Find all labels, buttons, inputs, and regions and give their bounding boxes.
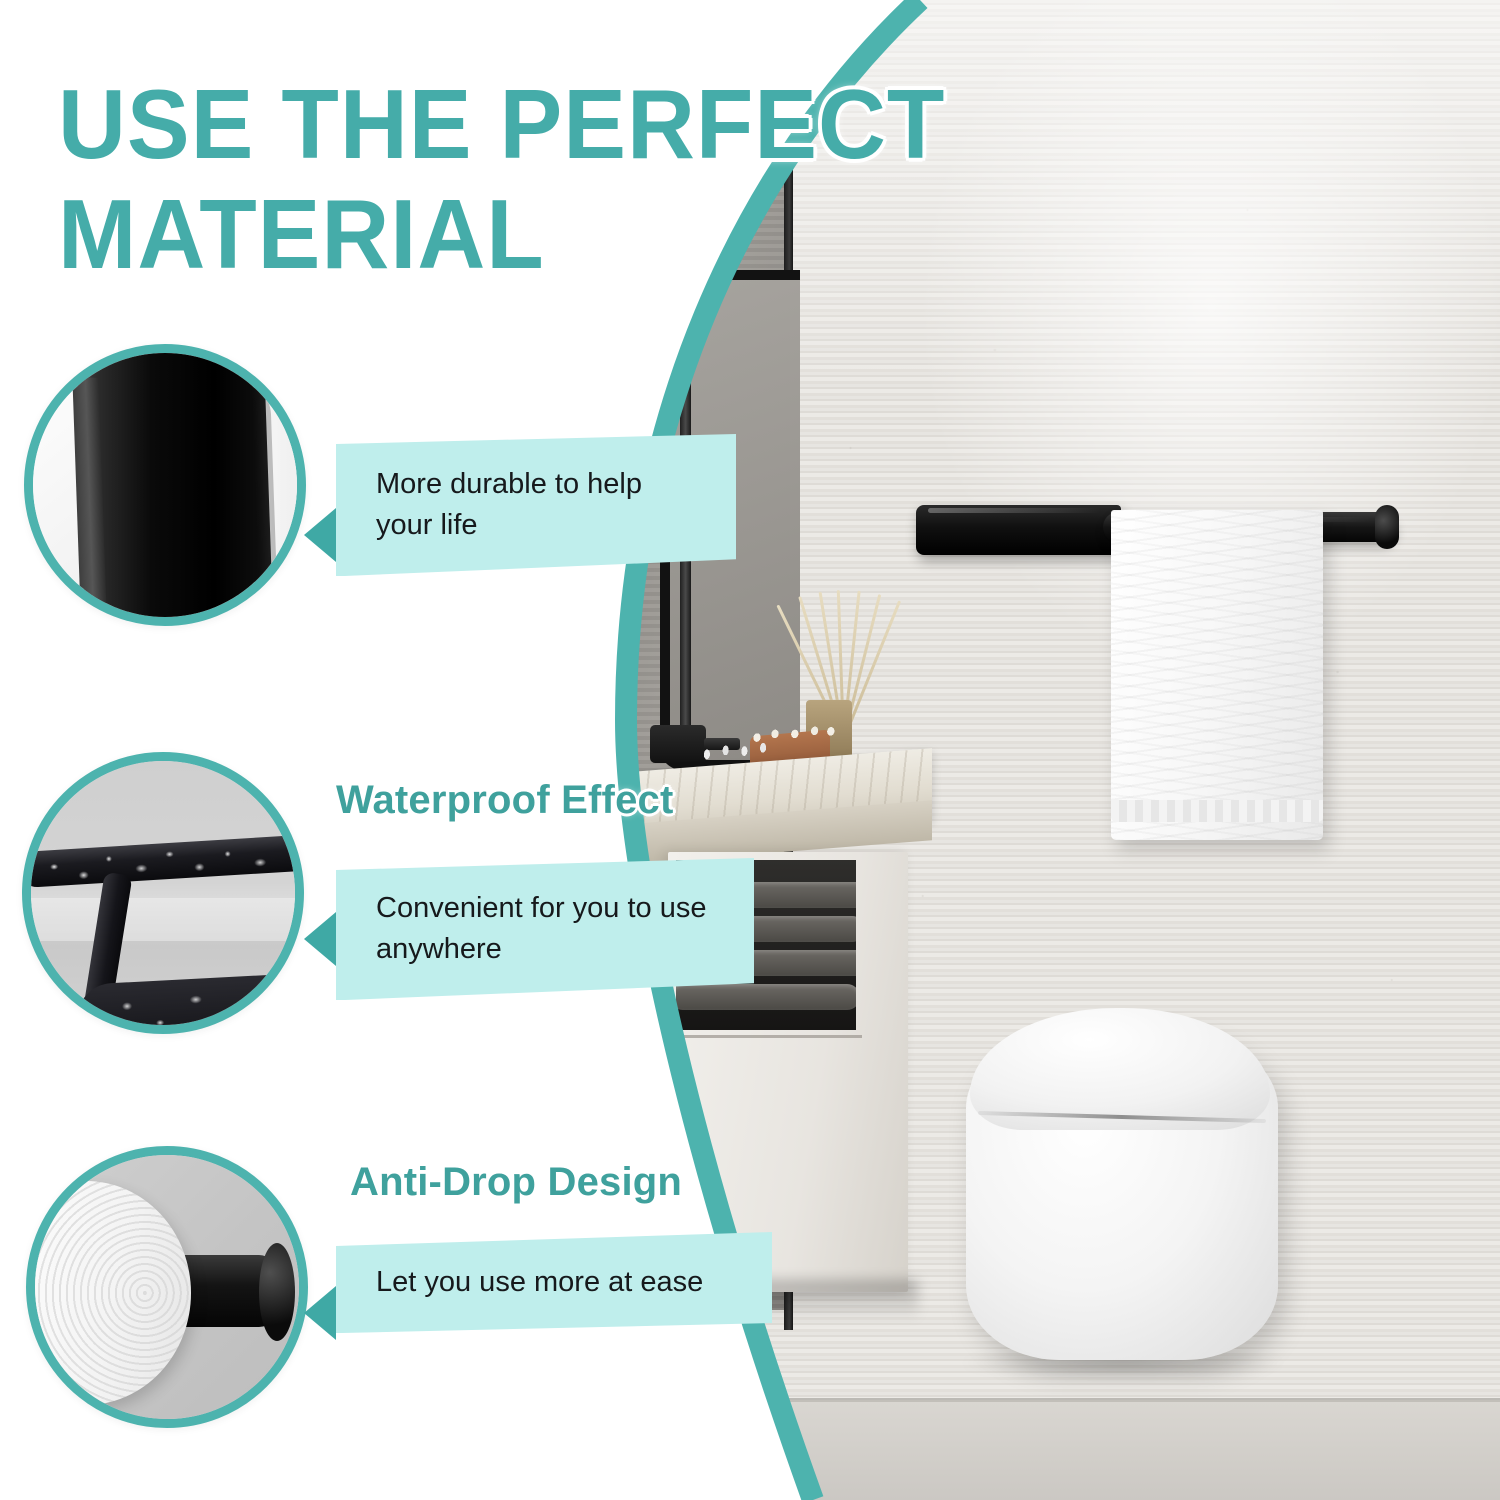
paper-holder-end-cap [259,1243,295,1341]
product-infographic: USE THE PERFECT MATERIAL More durable to… [0,0,1500,1500]
callout-anti-drop: Let you use more at ease [336,1232,772,1333]
bathroom-floor [598,1400,1500,1500]
callout-pointer-durable [304,508,336,562]
page-title: USE THE PERFECT MATERIAL [58,70,1018,290]
towel-hem [1111,800,1323,822]
headline-line-1: USE THE PERFECT [58,69,945,179]
callout-waterproof: Convenient for you to use anywhere [336,858,754,1000]
towel-bar-end-cap [1375,505,1399,549]
rolled-towel [676,984,856,1010]
water-droplets [31,761,295,1025]
headline-line-2: MATERIAL [58,180,1018,290]
towel-bar-mounting-plate [916,505,1121,555]
feature-title-waterproof: Waterproof Effect [336,778,673,823]
feature-image-anti-drop [26,1146,308,1428]
callout-pointer-anti-drop [304,1286,336,1340]
callout-durable: More durable to help your life [336,434,736,576]
callout-pointer-waterproof [304,912,336,966]
feature-image-durable [24,344,306,626]
cabinet-drawer-seam [676,1035,862,1038]
feature-image-waterproof [22,752,304,1034]
white-hanging-towel [1111,510,1323,840]
feature-title-anti-drop: Anti-Drop Design [350,1160,682,1205]
